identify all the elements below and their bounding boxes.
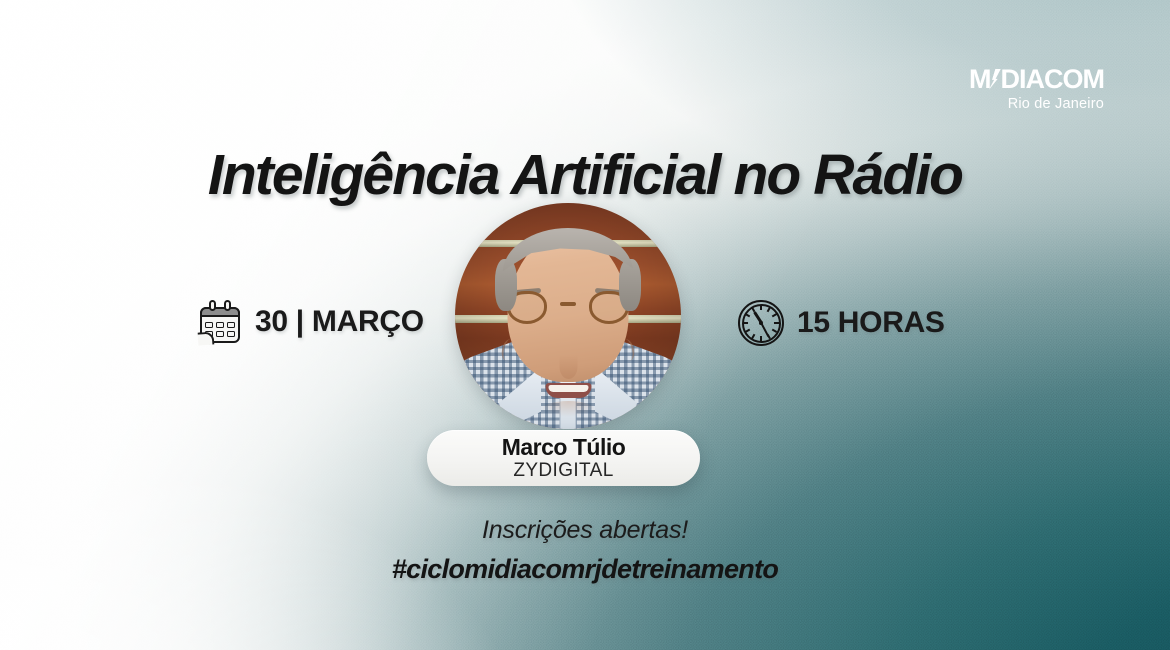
calendar-cell [216,331,224,337]
slash-icon [990,69,1001,90]
calendar-cell [227,322,235,328]
speaker-name: Marco Túlio [502,435,626,459]
promo-poster: M DIACOM Rio de Janeiro Inteligência Art… [0,0,1170,650]
glasses-icon [455,291,681,327]
mediacom-logo: M DIACOM Rio de Janeiro [969,66,1104,112]
logo-subtitle: Rio de Janeiro [969,97,1104,112]
calendar-icon [198,300,242,344]
registration-cta: Inscrições abertas! [0,516,1170,545]
calendar-ring [224,300,231,311]
calendar-cell [216,322,224,328]
logo-letter-m: M [969,66,991,93]
mouth [545,383,591,398]
event-time: 15 HORAS [738,300,945,346]
calendar-cell [227,331,235,337]
event-time-label: 15 HORAS [797,306,945,340]
speaker-portrait [455,203,681,429]
event-hashtag: #ciclomidiacomrjdetreinamento [0,554,1170,585]
hair-side-right [619,259,641,311]
event-date-label: 30 | MARÇO [255,305,424,339]
page-title: Inteligência Artificial no Rádio [0,142,1170,208]
calendar-cell [205,322,213,328]
teeth [548,385,588,392]
calendar-ring [209,300,216,311]
clock-center-dot [759,321,762,324]
speaker-name-badge: Marco Túlio ZYDIGITAL [427,430,700,486]
event-date: 30 | MARÇO [198,300,424,344]
chin-shading [542,401,594,417]
glasses-bridge [560,302,576,306]
nose [559,355,577,379]
calendar-header-band [200,307,240,317]
speaker-company: ZYDIGITAL [513,460,613,481]
logo-letters-diacom: DIACOM [1001,66,1105,93]
logo-wordmark: M DIACOM [969,66,1104,93]
clock-icon [738,300,784,346]
